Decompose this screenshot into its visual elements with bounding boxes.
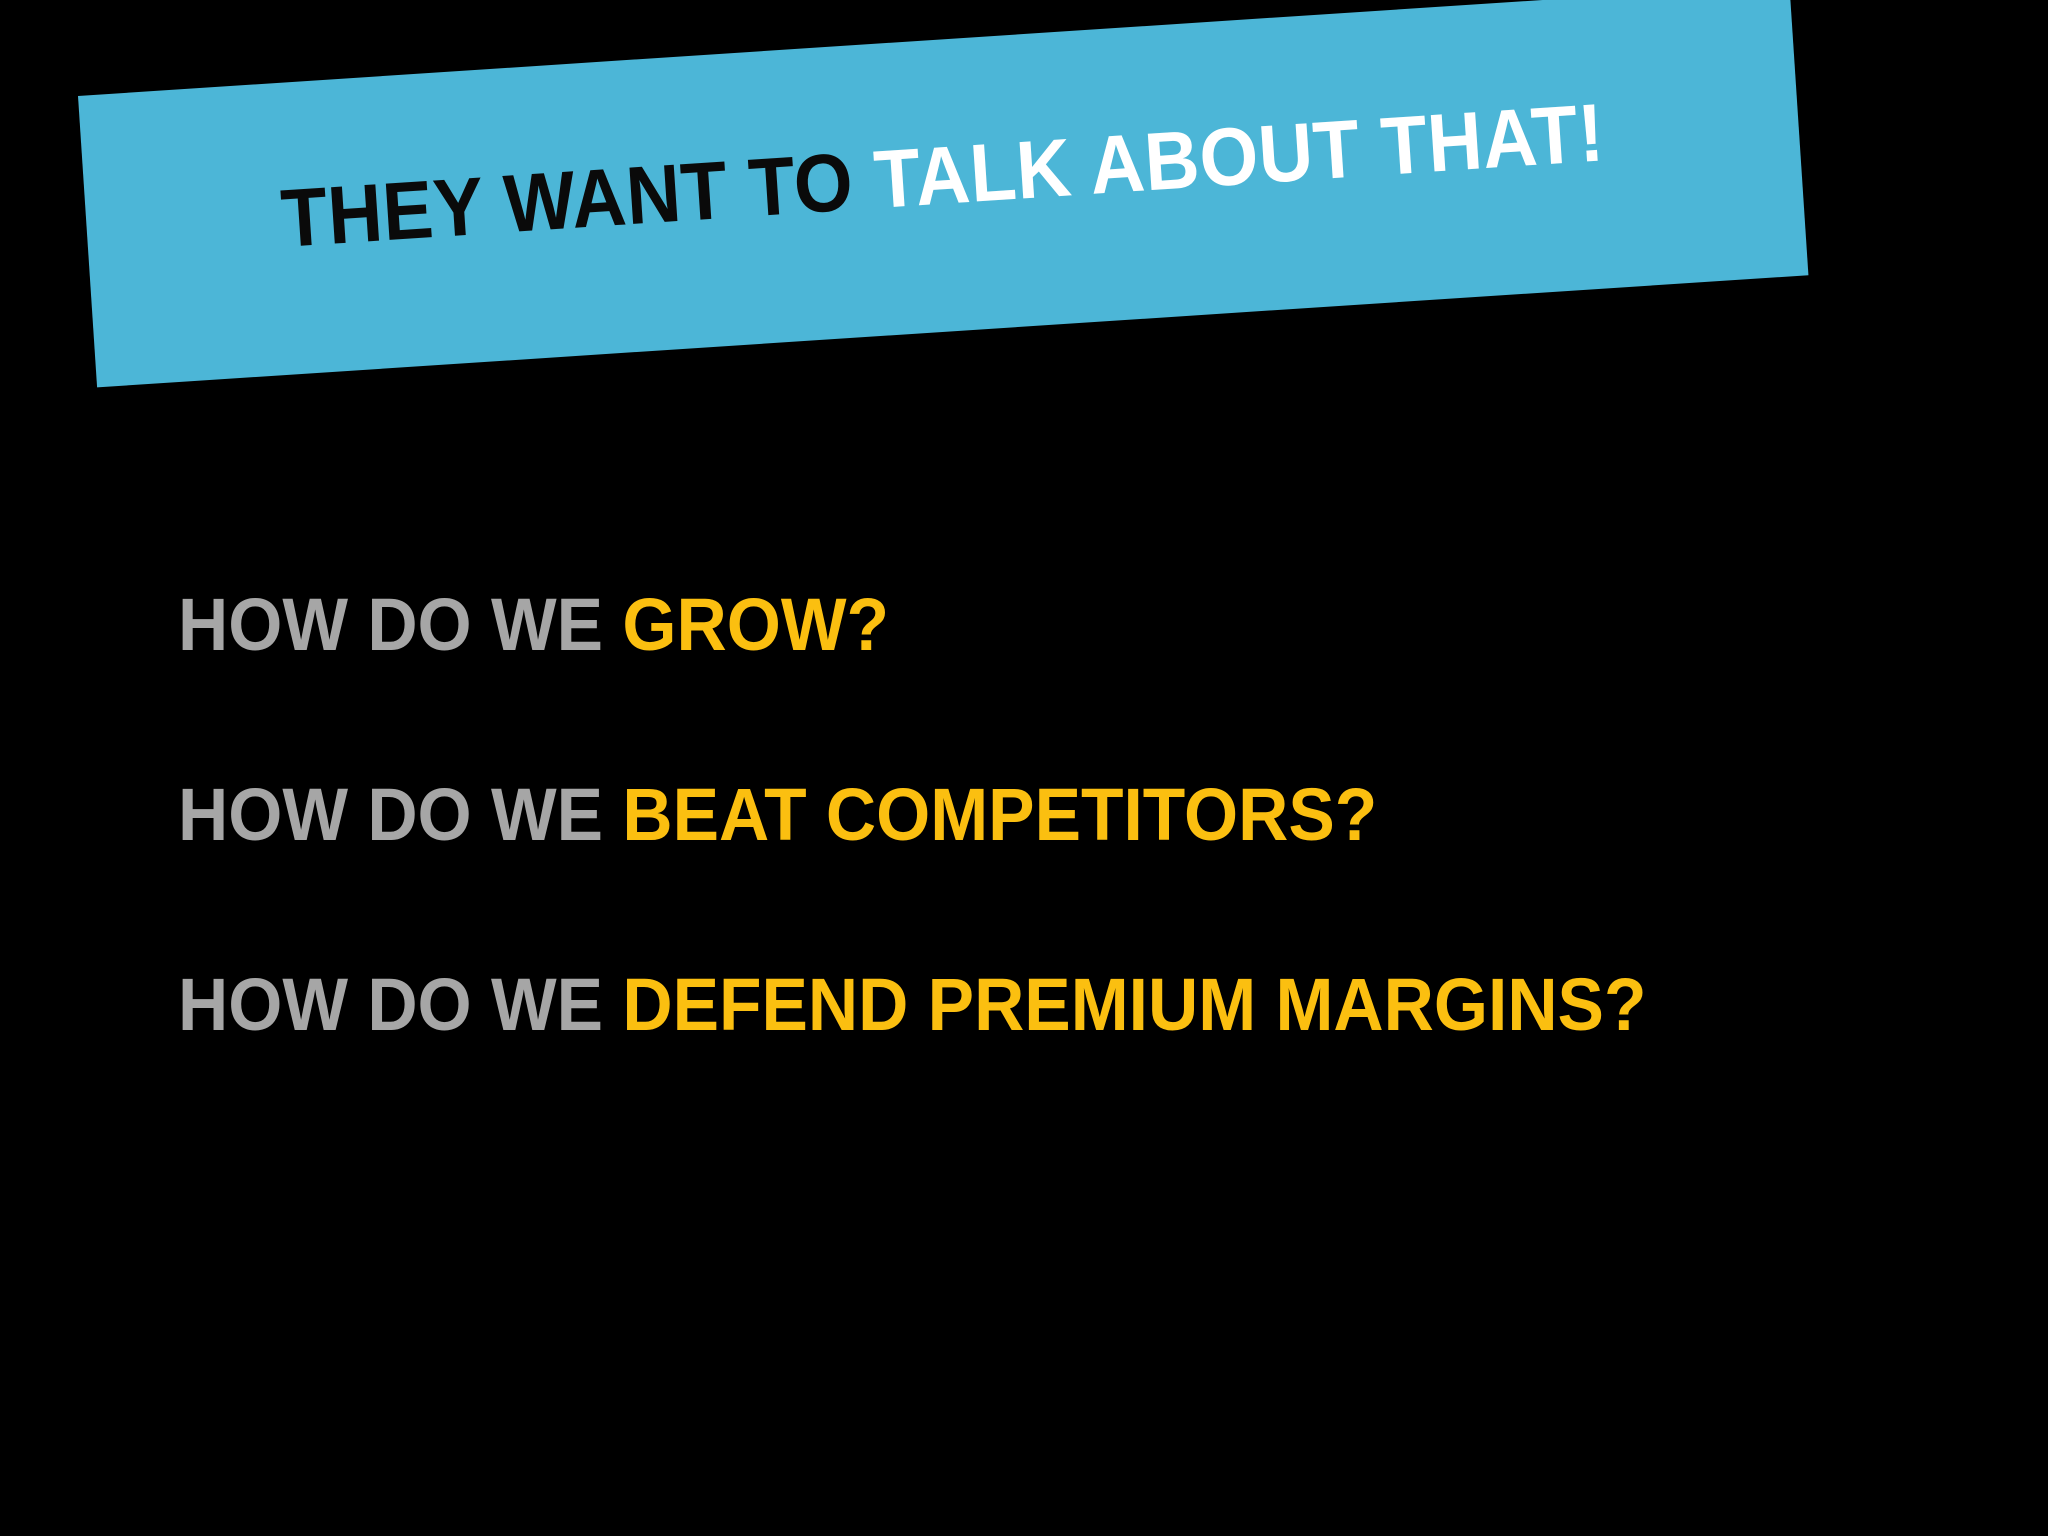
question-highlight: BEAT COMPETITORS? xyxy=(622,773,1377,856)
question-prefix: HOW DO WE xyxy=(178,583,622,666)
question-highlight: DEFEND PREMIUM MARGINS? xyxy=(622,963,1646,1046)
question-line-beat-competitors: HOW DO WE BEAT COMPETITORS? xyxy=(178,778,1870,852)
title-banner: THEY WANT TO TALK ABOUT THAT! xyxy=(78,0,1808,387)
question-list: HOW DO WE GROW? HOW DO WE BEAT COMPETITO… xyxy=(178,588,1978,1042)
question-prefix: HOW DO WE xyxy=(178,773,622,856)
question-line-grow: HOW DO WE GROW? xyxy=(178,588,1870,662)
slide-canvas: THEY WANT TO TALK ABOUT THAT! HOW DO WE … xyxy=(0,0,2048,1536)
question-prefix: HOW DO WE xyxy=(178,963,622,1046)
question-line-defend-premium-margins: HOW DO WE DEFEND PREMIUM MARGINS? xyxy=(178,968,1870,1042)
question-highlight: GROW? xyxy=(622,583,889,666)
